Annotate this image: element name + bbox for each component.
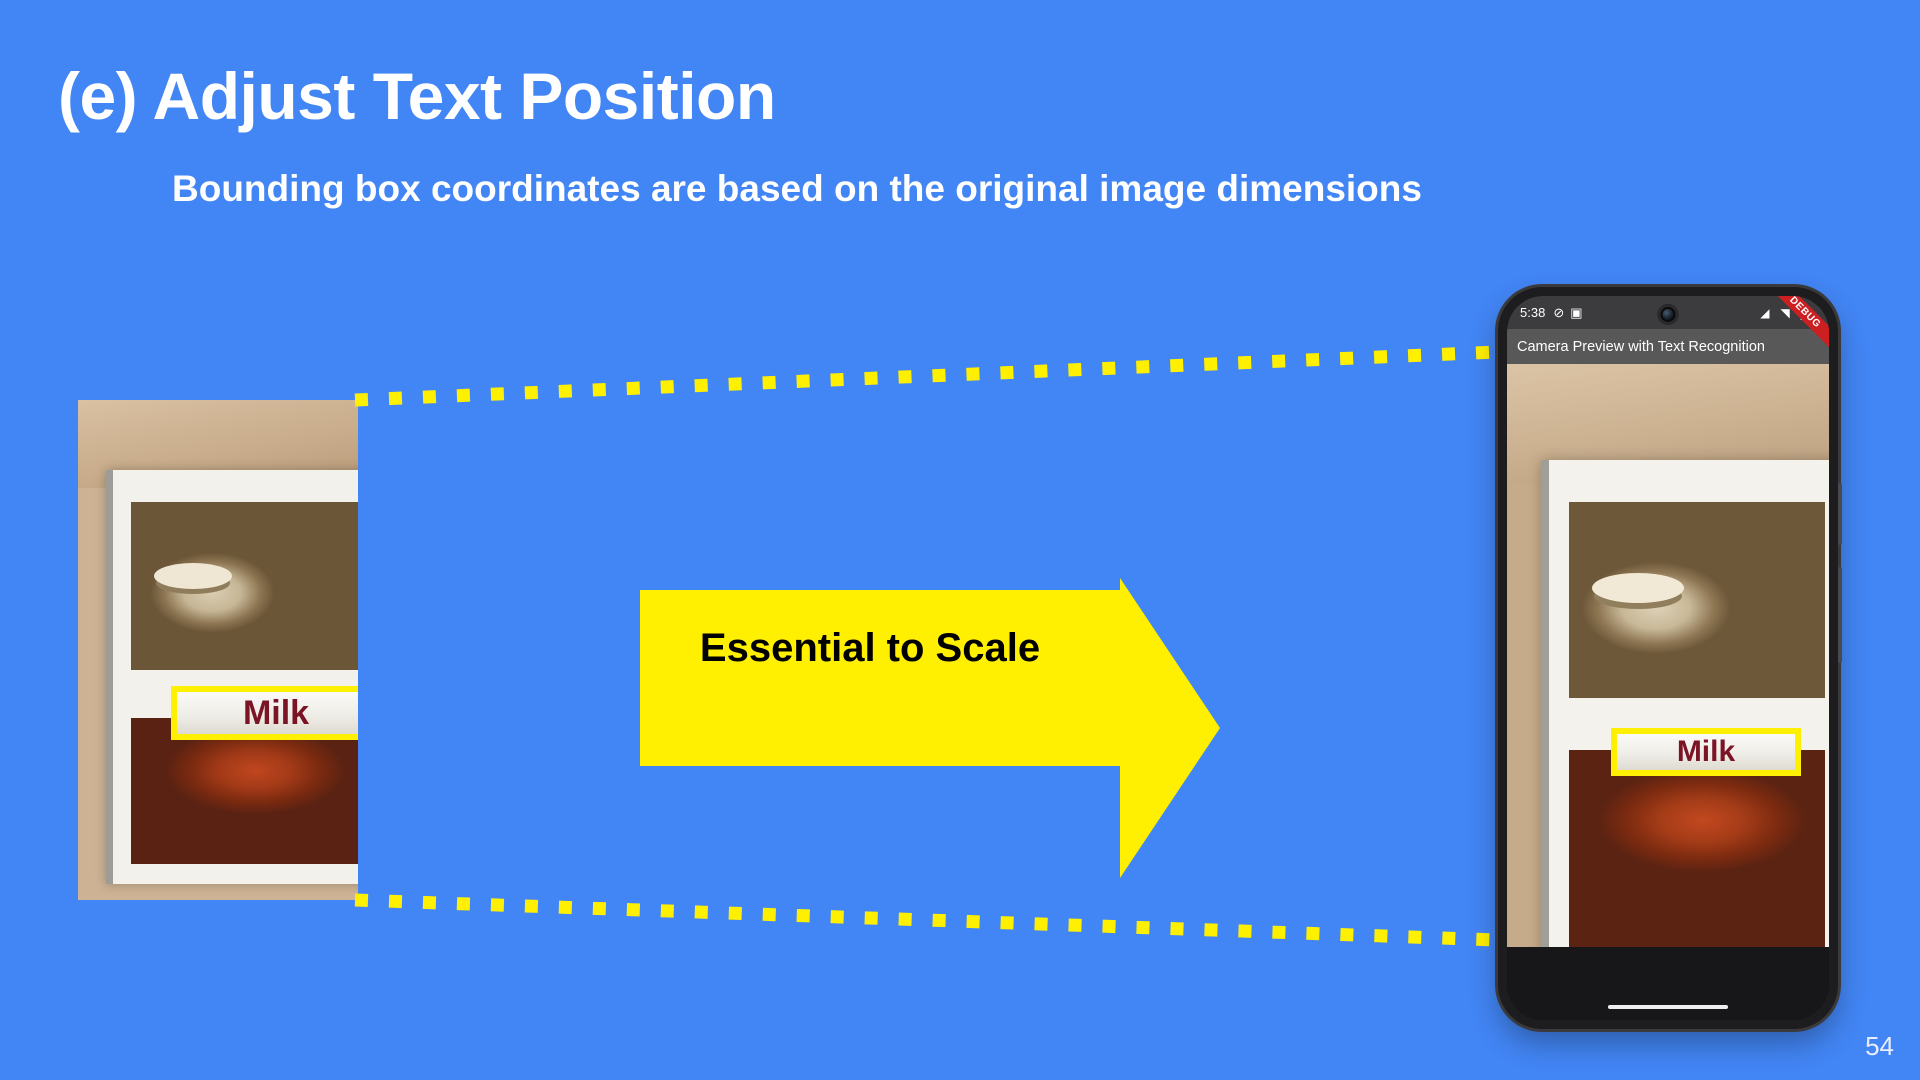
- home-gesture-pill[interactable]: [1608, 1005, 1728, 1009]
- status-bar-clock: 5:38: [1520, 305, 1545, 320]
- phone-power-button[interactable]: [1838, 483, 1842, 545]
- phone-screen: 5:38 ⊘ ▣ ◢ ◥ ▃ DEBUG Camera Preview with…: [1507, 296, 1829, 1020]
- preview-soup-bowl-region: [1569, 502, 1825, 698]
- cellular-signal-icon: ◥: [1781, 307, 1790, 319]
- preview-menu-board: Milk: [1541, 460, 1829, 958]
- original-image: Milk: [78, 400, 358, 900]
- app-bar: Camera Preview with Text Recognition: [1507, 329, 1829, 364]
- system-navigation-bar: [1507, 947, 1829, 1020]
- page-number: 54: [1865, 1031, 1894, 1062]
- phone-mockup: 5:38 ⊘ ▣ ◢ ◥ ▃ DEBUG Camera Preview with…: [1498, 287, 1838, 1029]
- photo-menu-board: Milk: [106, 470, 358, 884]
- connector-line-top: [355, 352, 1498, 400]
- preview-rice-dish-region: [1569, 750, 1825, 958]
- arrow-label: Essential to Scale: [660, 628, 1080, 668]
- preview-bowl-rim: [1592, 573, 1684, 603]
- connector-line-bottom: [355, 900, 1498, 940]
- camera-preview-surface[interactable]: Milk: [1507, 364, 1829, 958]
- wifi-icon: ◢: [1760, 307, 1769, 319]
- photo-bowl-rim: [154, 563, 232, 589]
- original-milk-label-plate: Milk: [177, 692, 358, 734]
- recognized-text-bounding-box: Milk: [1611, 728, 1801, 776]
- photo-soup-bowl-region: [131, 502, 358, 670]
- app-bar-title: Camera Preview with Text Recognition: [1517, 339, 1765, 355]
- do-not-disturb-icon: ⊘: [1553, 306, 1564, 319]
- page-title: (e) Adjust Text Position: [58, 58, 776, 134]
- app-badge-icon: ▣: [1570, 306, 1582, 319]
- recognized-text-label: Milk: [1677, 735, 1735, 769]
- scale-arrow: [640, 578, 1220, 878]
- original-milk-bounding-box: Milk: [171, 686, 358, 740]
- front-camera-icon: [1658, 304, 1679, 325]
- preview-milk-label-plate: Milk: [1617, 734, 1795, 770]
- original-milk-label-text: Milk: [243, 694, 309, 733]
- arrow-shape: [640, 578, 1220, 878]
- phone-volume-button[interactable]: [1838, 567, 1842, 663]
- page-subtitle: Bounding box coordinates are based on th…: [172, 168, 1422, 210]
